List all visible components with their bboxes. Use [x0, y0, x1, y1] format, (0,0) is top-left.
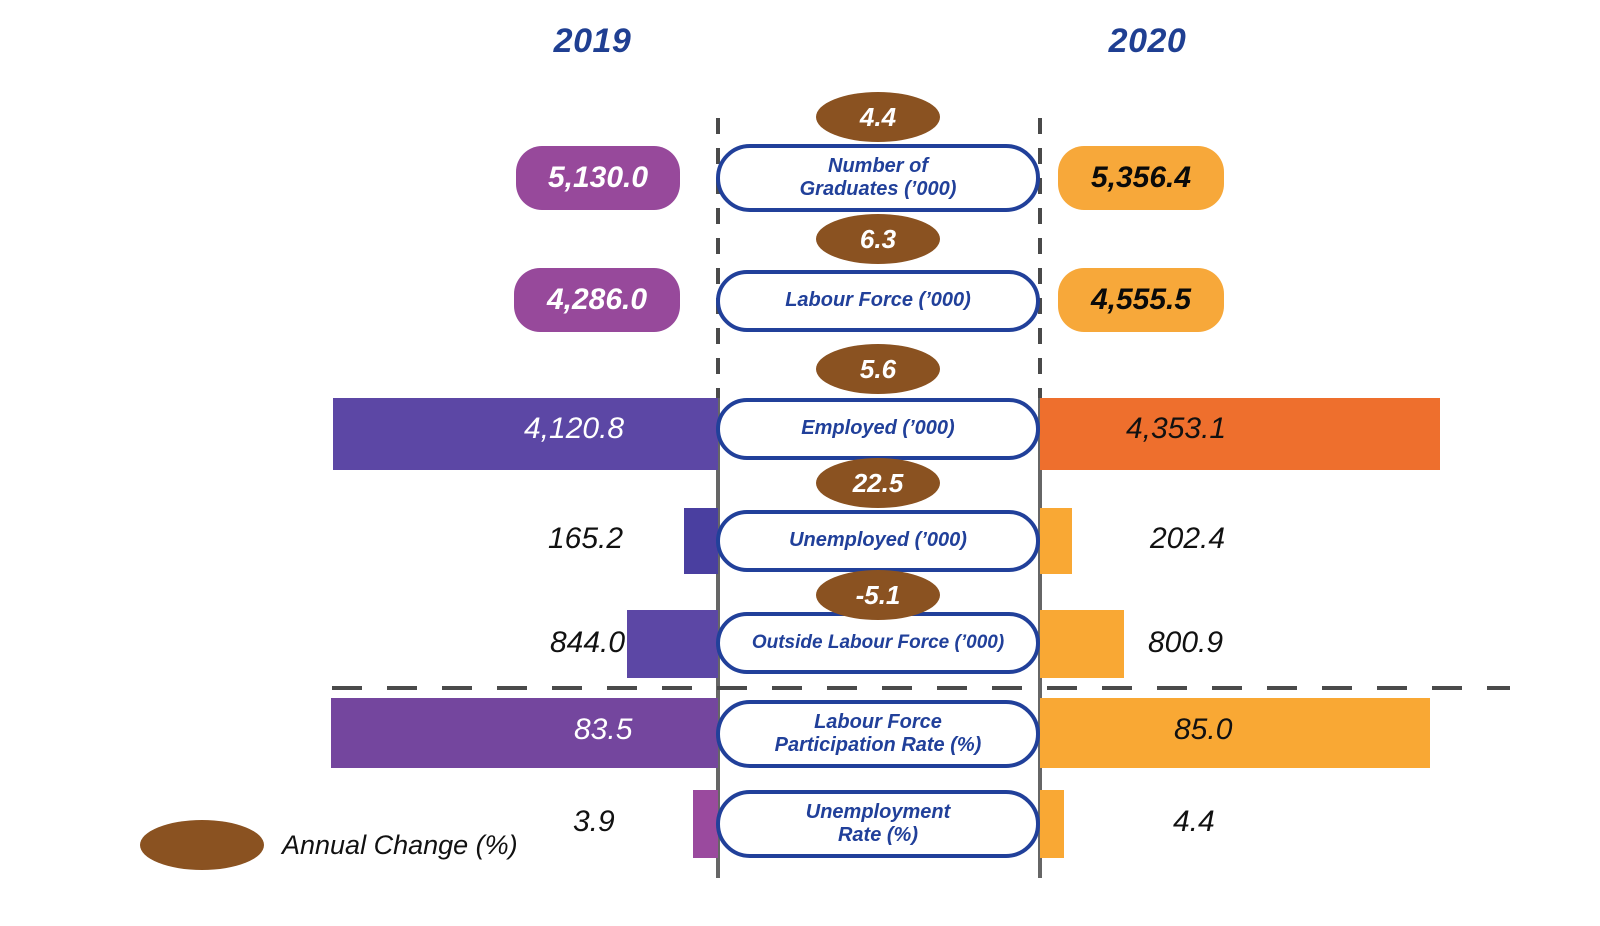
metric-label-line-2: Graduates (’000): [800, 178, 957, 201]
bar-2019-unemployment-rate: [693, 790, 718, 858]
metric-label-unemployed: Unemployed (’000): [716, 510, 1040, 572]
metric-label-line-2: Rate (%): [838, 824, 918, 847]
annual-change-ellipse-icon: [140, 820, 264, 870]
metric-label-outside-labour-force: Outside Labour Force (’000): [716, 612, 1040, 674]
annual-change-badge-unemployed: 22.5: [816, 458, 940, 508]
bar-value-2019-unemployed: 165.2: [548, 522, 623, 556]
annual-change-badge-labour-force: 6.3: [816, 214, 940, 264]
value-chip-2019-graduates: 5,130.0: [516, 146, 680, 210]
legend-label: Annual Change (%): [282, 830, 518, 861]
legend: Annual Change (%): [140, 820, 518, 870]
value-chip-2020-graduates: 5,356.4: [1058, 146, 1224, 210]
metric-label-line-1: Number of: [828, 155, 928, 178]
bar-value-2020-employed: 4,353.1: [1126, 412, 1226, 446]
bar-2020-unemployed: [1040, 508, 1072, 574]
bar-2020-lfpr: [1040, 698, 1430, 768]
bar-2019-outside-labour-force: [627, 610, 718, 678]
infographic-canvas: 2019 2020 4.4 5,130.0 5,356.4 Number of …: [0, 0, 1600, 926]
metric-label-line-2: Participation Rate (%): [775, 734, 982, 757]
value-chip-2020-labour-force: 4,555.5: [1058, 268, 1224, 332]
bar-value-2020-outside-labour-force: 800.9: [1148, 626, 1223, 660]
metric-label-employed: Employed (’000): [716, 398, 1040, 460]
bar-value-2019-outside-labour-force: 844.0: [550, 626, 625, 660]
bar-value-2020-unemployment-rate: 4.4: [1173, 805, 1215, 839]
bar-value-2020-unemployed: 202.4: [1150, 522, 1225, 556]
metric-label-labour-force: Labour Force (’000): [716, 270, 1040, 332]
year-header-left: 2019: [500, 22, 685, 61]
annual-change-badge-outside-labour-force: -5.1: [816, 570, 940, 620]
bar-2020-outside-labour-force: [1040, 610, 1124, 678]
axis-right-dashed-segment: [1038, 118, 1042, 398]
metric-label-graduates: Number of Graduates (’000): [716, 144, 1040, 212]
bar-2020-unemployment-rate: [1040, 790, 1064, 858]
value-chip-2019-labour-force: 4,286.0: [514, 268, 680, 332]
bar-value-2020-lfpr: 85.0: [1174, 713, 1232, 747]
metric-label-line-1: Unemployment: [806, 801, 950, 824]
bar-2019-lfpr: [331, 698, 718, 768]
bar-value-2019-unemployment-rate: 3.9: [573, 805, 615, 839]
bar-2020-employed: [1040, 398, 1440, 470]
bar-value-2019-employed: 4,120.8: [524, 412, 624, 446]
annual-change-badge-employed: 5.6: [816, 344, 940, 394]
annual-change-badge-graduates: 4.4: [816, 92, 940, 142]
year-header-right: 2020: [1055, 22, 1240, 61]
section-divider: [332, 686, 1510, 690]
metric-label-line-1: Labour Force: [814, 711, 942, 734]
bar-2019-unemployed: [684, 508, 718, 574]
bar-value-2019-lfpr: 83.5: [574, 713, 632, 747]
metric-label-lfpr: Labour Force Participation Rate (%): [716, 700, 1040, 768]
metric-label-unemployment-rate: Unemployment Rate (%): [716, 790, 1040, 858]
axis-left-dashed-segment: [716, 118, 720, 398]
